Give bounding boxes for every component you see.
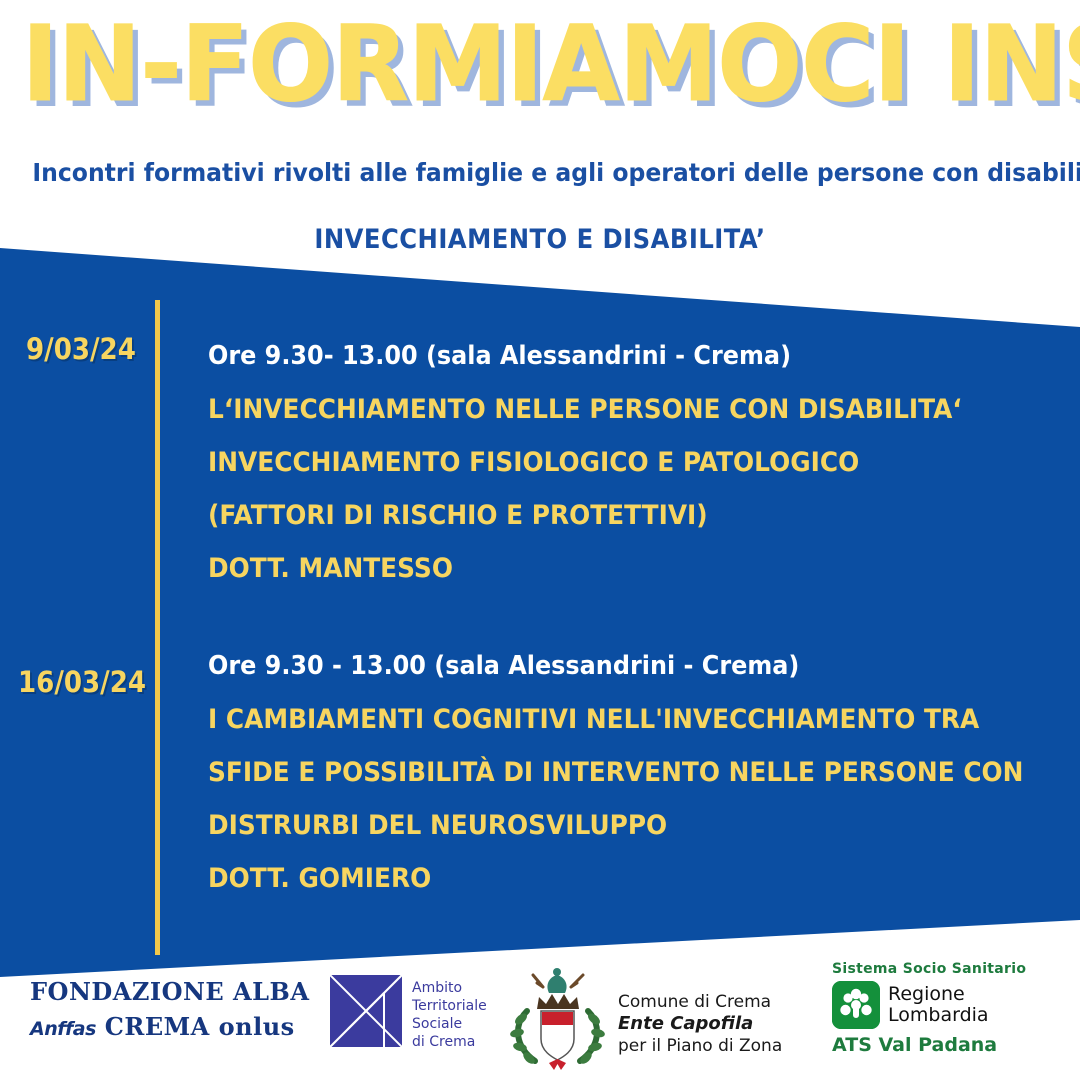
- session-line: DISTRURBI DEL NEUROSVILUPPO: [208, 799, 1023, 852]
- ambito-line-3: Sociale: [412, 1015, 487, 1033]
- session-time: Ore 9.30 - 13.00 (sala Alessandrini - Cr…: [208, 640, 1023, 693]
- regione-name-line1: Regione: [888, 984, 989, 1005]
- regione-lombardia-rose-icon: [832, 981, 880, 1029]
- anffas-wordmark: Anffas: [30, 1018, 96, 1040]
- regione-name-line2: Lombardia: [888, 1005, 989, 1026]
- ambito-line-4: di Crema: [412, 1033, 487, 1051]
- poster: IN-FORMIAMOCI INSIEME Incontri formativi…: [0, 0, 1080, 1080]
- footer-logos: FONDAZIONE ALBA Anffas CREMA onlus: [0, 955, 1080, 1080]
- ambito-territoriale-text: Ambito Territoriale Sociale di Crema: [412, 975, 487, 1051]
- ambito-line-1: Ambito: [412, 979, 487, 997]
- tangram-square-icon: [330, 975, 402, 1047]
- fondazione-alba-line1: FONDAZIONE ALBA: [30, 977, 309, 1006]
- session-line: L‘INVECCHIAMENTO NELLE PERSONE CON DISAB…: [208, 383, 962, 436]
- session-date: 9/03/24: [26, 332, 136, 366]
- comune-line-3: per il Piano di Zona: [618, 1035, 782, 1057]
- regione-mark-row: Regione Lombardia: [832, 981, 1042, 1029]
- comune-line-1: Comune di Crema: [618, 991, 782, 1013]
- session-line: I CAMBIAMENTI COGNITIVI NELL'INVECCHIAME…: [208, 693, 1023, 746]
- comune-di-crema-text: Comune di Crema Ente Capofila per il Pia…: [618, 991, 782, 1057]
- fondazione-alba-line2: Anffas CREMA onlus: [30, 1012, 309, 1041]
- session-line: SFIDE E POSSIBILITÀ DI INTERVENTO NELLE …: [208, 746, 1023, 799]
- session-block: Ore 9.30- 13.00 (sala Alessandrini - Cre…: [208, 330, 1027, 595]
- comune-di-crema-coat-of-arms-icon: [505, 963, 610, 1075]
- session-block: Ore 9.30 - 13.00 (sala Alessandrini - Cr…: [208, 640, 1080, 905]
- fondazione-alba-logo: FONDAZIONE ALBA Anffas CREMA onlus: [30, 977, 309, 1041]
- session-line: INVECCHIAMENTO FISIOLOGICO E PATOLOGICO: [208, 436, 962, 489]
- session-line: (FATTORI DI RISCHIO E PROTETTIVI): [208, 489, 962, 542]
- session-speaker: DOTT. MANTESSO: [208, 542, 962, 595]
- vertical-divider-rule: [155, 300, 160, 955]
- session-date: 16/03/24: [18, 665, 146, 699]
- regione-lombardia-name: Regione Lombardia: [888, 984, 989, 1026]
- ats-val-padana-label: ATS Val Padana: [832, 1034, 1042, 1056]
- schedule: 9/03/24 Ore 9.30- 13.00 (sala Alessandri…: [0, 0, 1080, 1080]
- ambito-territoriale-logo: Ambito Territoriale Sociale di Crema: [330, 975, 487, 1051]
- ambito-line-2: Territoriale: [412, 997, 487, 1015]
- comune-ente-capofila: Ente Capofila: [618, 1013, 782, 1035]
- regione-lombardia-logo: Sistema Socio Sanitario: [832, 961, 1042, 1056]
- session-time: Ore 9.30- 13.00 (sala Alessandrini - Cre…: [208, 330, 962, 383]
- sistema-socio-sanitario-label: Sistema Socio Sanitario: [832, 961, 1042, 977]
- session-speaker: DOTT. GOMIERO: [208, 852, 1023, 905]
- fondazione-alba-crema-onlus: CREMA onlus: [105, 1012, 295, 1041]
